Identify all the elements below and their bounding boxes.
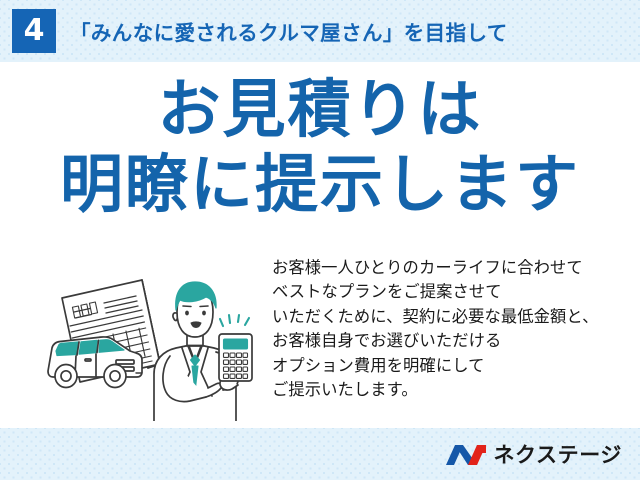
body-copy-line: オプション費用を明確にして xyxy=(272,354,624,378)
body-copy-line: お客様一人ひとりのカーライフに合わせて xyxy=(272,256,624,280)
illustration xyxy=(30,256,272,421)
step-number-badge: 4 xyxy=(12,9,56,53)
footer: ネクステージ xyxy=(0,428,640,480)
headline-line-2: 明瞭に提示します xyxy=(0,153,640,217)
headline-line-1: お見積りは xyxy=(0,78,640,142)
header: 4 「みんなに愛されるクルマ屋さん」を目指して xyxy=(0,0,640,62)
body-copy: お客様一人ひとりのカーライフに合わせて ベストなプランをご提案させて いただくた… xyxy=(272,256,624,402)
sparkle-icon xyxy=(220,315,249,326)
body-copy-line: いただくために、契約に必要な最低金額と、 xyxy=(272,305,624,329)
body-copy-line: ご提示いたします。 xyxy=(272,378,624,402)
body-copy-line: お客様自身でお選びいただける xyxy=(272,329,624,353)
header-title: 「みんなに愛されるクルマ屋さん」を目指して xyxy=(70,16,508,46)
illustration-svg xyxy=(30,256,272,421)
body-copy-line: ベストなプランをご提案させて xyxy=(272,280,624,304)
promo-banner: 4 「みんなに愛されるクルマ屋さん」を目指して お見積りは 明瞭に提示します xyxy=(0,0,640,480)
calculator xyxy=(219,334,252,381)
nextage-logo-text: ネクステージ xyxy=(493,439,622,469)
nextage-logo-icon xyxy=(446,441,486,468)
headline: お見積りは 明瞭に提示します xyxy=(0,78,640,218)
